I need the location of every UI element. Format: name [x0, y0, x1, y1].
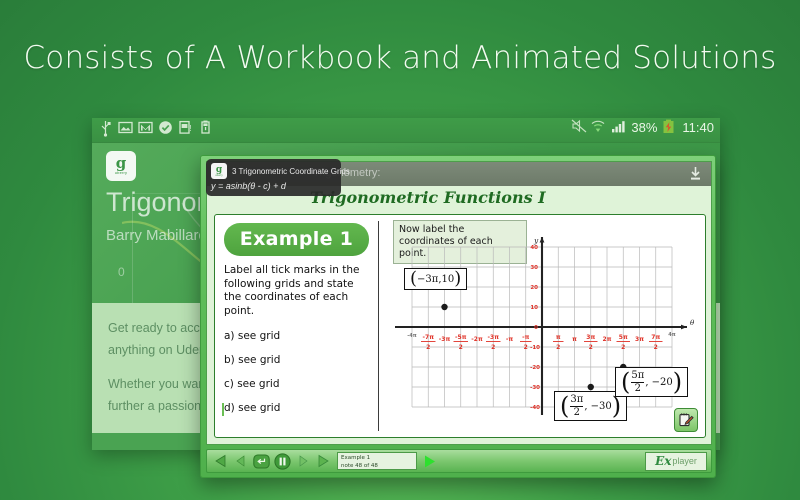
svg-text:θ: θ: [690, 319, 695, 327]
overlay-logo-letter: g: [216, 166, 222, 174]
battery-charging-icon: [662, 119, 677, 136]
app-logo: g uberry: [106, 151, 136, 181]
svg-text:4π: 4π: [668, 332, 675, 338]
status-bar-left-icons: !: [98, 120, 213, 137]
slide-content-card: Example 1 Label all tick marks in the fo…: [214, 214, 706, 438]
mute-icon: [571, 119, 586, 136]
app-axis-zero-label: 0: [118, 265, 125, 279]
annotation-numerator: 5π: [631, 371, 644, 381]
explayer-logo-sub: player: [672, 456, 697, 466]
step-back-button[interactable]: [232, 453, 249, 470]
step-forward-button[interactable]: [295, 453, 312, 470]
app-course-author: Barry Mabillard: [106, 227, 207, 244]
sim-card-icon: !: [178, 120, 193, 137]
svg-text:π: π: [556, 334, 561, 341]
svg-text:!: !: [189, 124, 191, 133]
image-icon: [118, 120, 133, 137]
question-item-c: c) see grid: [224, 378, 369, 390]
svg-text:20: 20: [530, 285, 538, 291]
battery-alert-icon: [198, 120, 213, 137]
note-counter: note 48 of 48: [341, 462, 413, 470]
annotation-rest: , −20: [645, 377, 672, 388]
overlay-formula: y = asinb(θ - c) + d: [211, 181, 336, 191]
note-status-field[interactable]: Example 1 note 48 of 48: [337, 452, 417, 470]
note-title: Example 1: [341, 454, 413, 462]
play-button[interactable]: [421, 453, 438, 470]
question-item-d: d) see grid: [224, 402, 369, 414]
text-caret: [222, 403, 224, 416]
check-circle-icon: [158, 120, 173, 137]
annotation-denominator: 2: [635, 384, 641, 394]
svg-text:5π: 5π: [619, 334, 628, 341]
svg-text:0: 0: [534, 325, 538, 331]
gmail-icon: [138, 120, 153, 137]
notepad-pencil-icon[interactable]: [674, 408, 698, 432]
overlay-title-row: g uberry 3 Trigonometric Coordinate Grid…: [211, 163, 336, 179]
svg-text:-7π: -7π: [423, 334, 435, 341]
svg-text:-3π: -3π: [439, 336, 451, 343]
question-item-a: a) see grid: [224, 330, 369, 342]
example-badge: Example 1: [224, 223, 369, 256]
skip-back-button[interactable]: [211, 453, 228, 470]
pause-button[interactable]: [274, 453, 291, 470]
svg-text:-2π: -2π: [471, 336, 483, 343]
overlay-app-logo: g uberry: [211, 163, 227, 179]
page-title: Consists of A Workbook and Animated Solu…: [0, 40, 800, 76]
skip-forward-button[interactable]: [316, 453, 333, 470]
svg-text:-10: -10: [530, 345, 540, 351]
svg-text:2: 2: [589, 344, 593, 351]
svg-text:7π: 7π: [651, 334, 660, 341]
svg-text:30: 30: [530, 265, 538, 271]
download-icon[interactable]: [689, 166, 702, 184]
svg-text:-4π: -4π: [407, 333, 417, 339]
svg-text:40: 40: [530, 245, 538, 251]
svg-text:2: 2: [654, 344, 658, 351]
data-point: [441, 304, 447, 310]
usb-icon: [98, 120, 113, 137]
svg-text:2: 2: [524, 344, 528, 351]
overlay-logo-sub: uberry: [215, 174, 222, 177]
svg-text:-3π: -3π: [488, 334, 500, 341]
lesson-title-overlay: g uberry 3 Trigonometric Coordinate Grid…: [206, 159, 341, 196]
svg-text:10: 10: [530, 305, 538, 311]
annotation-numerator: 3π: [570, 395, 583, 405]
status-bar-right-icons: 38% 11:40: [571, 119, 714, 136]
explayer-logo: Ex player: [645, 452, 707, 471]
svg-text:y: y: [533, 236, 539, 245]
svg-text:π: π: [572, 336, 577, 343]
android-status-bar: ! 38% 11:40: [92, 118, 720, 143]
player-toolbar: Example 1 note 48 of 48 Ex player: [206, 449, 712, 473]
slide-area: Trigonometry: Trigonometric Functions I …: [206, 161, 712, 445]
svg-text:2: 2: [621, 344, 625, 351]
overlay-lesson-title: 3 Trigonometric Coordinate Grids: [232, 167, 350, 176]
signal-bars-icon: [611, 119, 626, 136]
question-item-b: b) see grid: [224, 354, 369, 366]
graph-column: Now label the coordinates of each point.: [379, 215, 705, 437]
wifi-icon: [591, 119, 606, 136]
media-player-window: Trigonometry: Trigonometric Functions I …: [200, 155, 716, 478]
explayer-logo-main: Ex: [655, 454, 671, 468]
svg-text:2: 2: [556, 344, 560, 351]
svg-text:2: 2: [426, 344, 430, 351]
point-annotation-a: (−3π,10): [404, 268, 467, 290]
svg-text:-20: -20: [530, 365, 540, 371]
trigonometric-coordinate-grid: θ y 40 30 20 10 0 -10 -20 -30 -40: [379, 215, 705, 437]
svg-text:-π: -π: [522, 334, 529, 341]
svg-text:-5π: -5π: [455, 334, 467, 341]
app-logo-letter: g: [116, 157, 127, 170]
svg-text:-40: -40: [530, 405, 540, 411]
annotation-rest: , −30: [584, 401, 611, 412]
svg-text:3π: 3π: [635, 336, 644, 343]
app-logo-sub: uberry: [115, 170, 128, 175]
svg-text:2: 2: [491, 344, 495, 351]
svg-text:-π: -π: [506, 336, 513, 343]
battery-percent-label: 38%: [631, 120, 657, 135]
svg-text:2: 2: [459, 344, 463, 351]
point-annotation-c: ( 5π2 , −20 ): [615, 367, 688, 397]
svg-text:2π: 2π: [603, 336, 612, 343]
question-column: Example 1 Label all tick marks in the fo…: [215, 215, 378, 437]
clock-label: 11:40: [682, 120, 714, 135]
question-prompt: Label all tick marks in the following gr…: [224, 264, 369, 318]
svg-text:3π: 3π: [586, 334, 595, 341]
replay-button[interactable]: [253, 453, 270, 470]
svg-text:-30: -30: [530, 385, 540, 391]
data-point: [588, 384, 594, 390]
annotation-denominator: 2: [574, 408, 580, 418]
